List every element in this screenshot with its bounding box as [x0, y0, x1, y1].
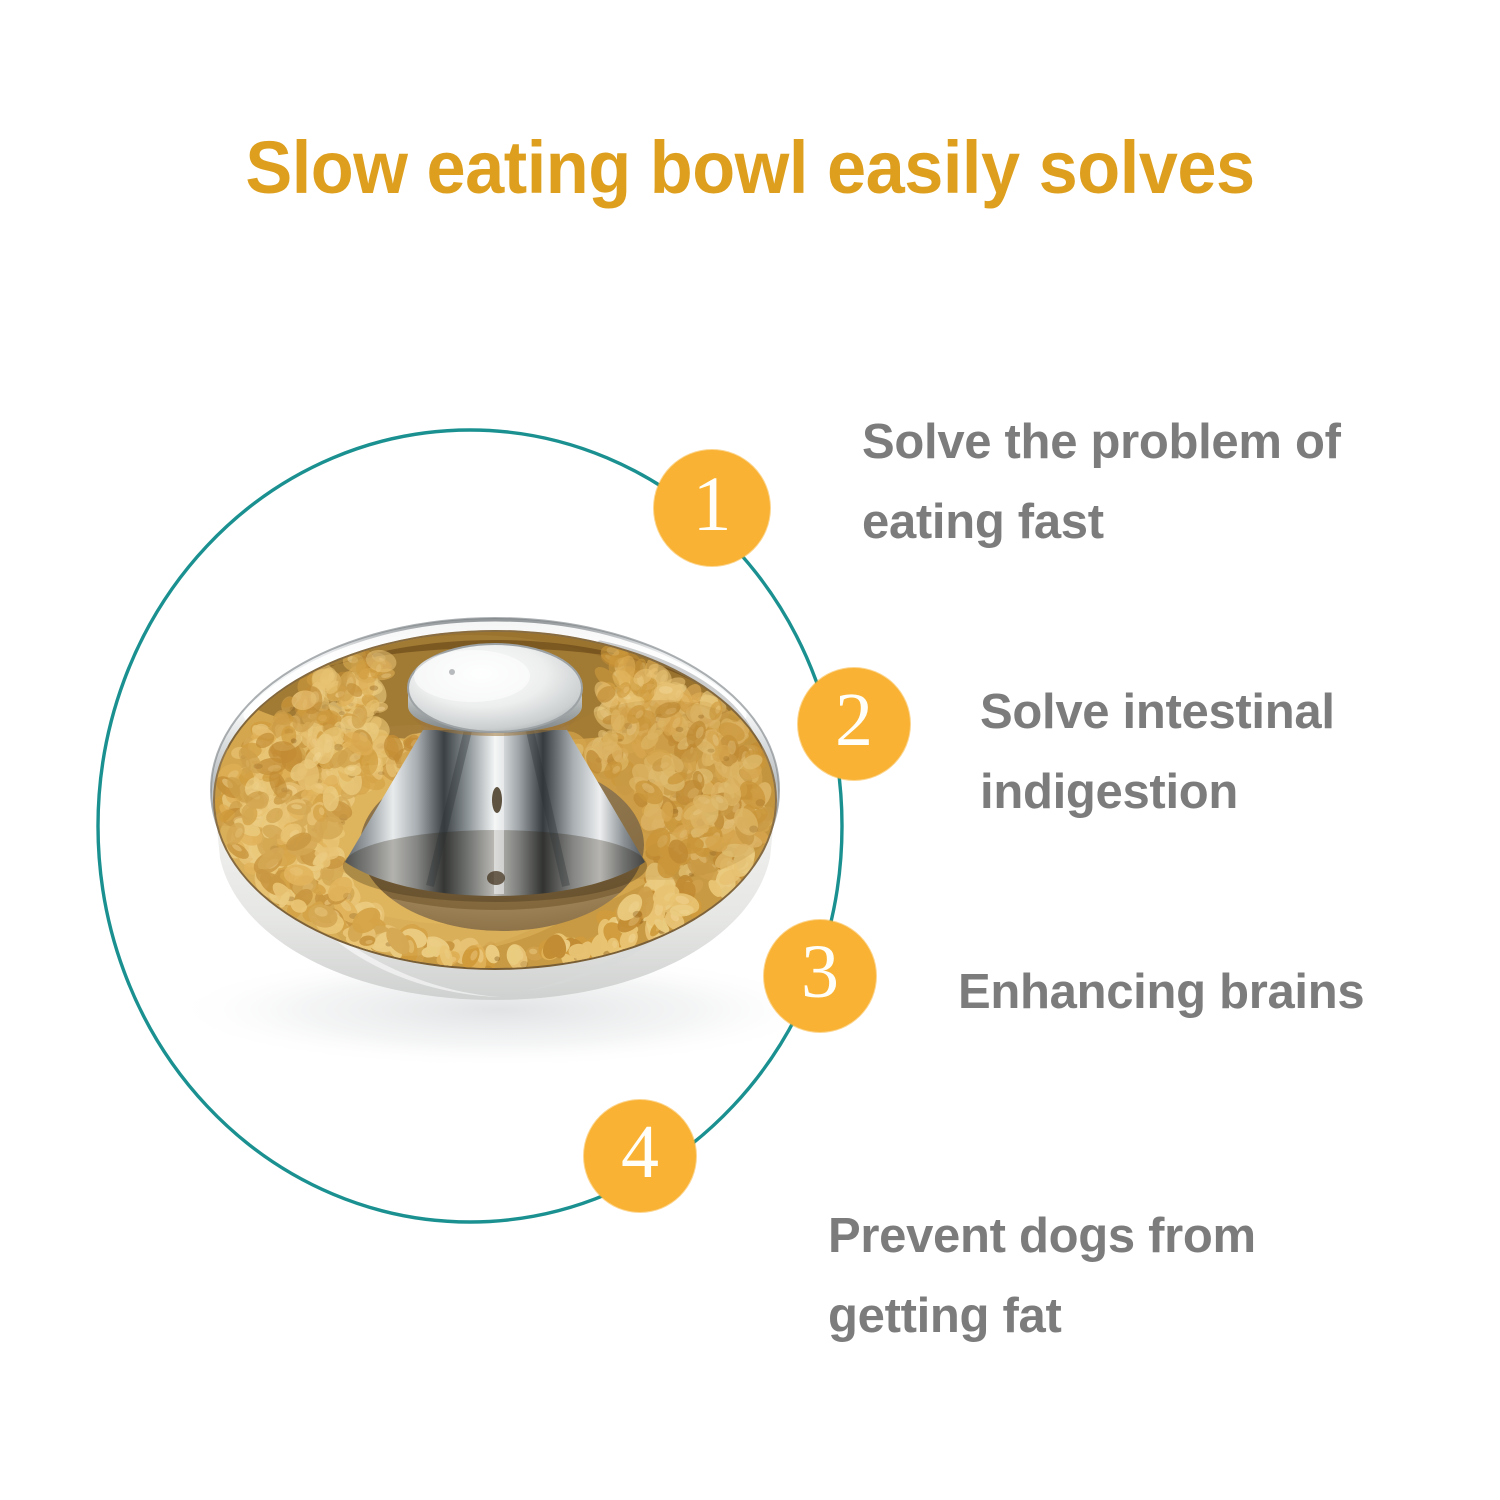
feature-badge-3-number: 3 [801, 929, 839, 1016]
feature-text-1-line-2: eating fast [862, 482, 1442, 562]
feature-badge-1: 1 [654, 450, 770, 566]
feature-text-4-line-1: Prevent dogs from [828, 1196, 1388, 1276]
feature-text-4: Prevent dogs from getting fat [828, 1196, 1388, 1356]
feature-text-2-line-2: indigestion [980, 752, 1480, 832]
feature-text-3: Enhancing brains [958, 952, 1478, 1032]
feature-text-2: Solve intestinal indigestion [980, 672, 1480, 832]
feature-text-3-line-1: Enhancing brains [958, 952, 1478, 1032]
feature-badge-2-number: 2 [835, 677, 873, 764]
feature-badge-3: 3 [764, 920, 876, 1032]
feature-text-1: Solve the problem of eating fast [862, 402, 1442, 562]
feature-badge-4-number: 4 [621, 1109, 659, 1196]
feature-text-4-line-2: getting fat [828, 1276, 1388, 1356]
feature-badge-1-number: 1 [693, 459, 732, 549]
page-title: Slow eating bowl easily solves [38, 126, 1463, 210]
feature-text-1-line-1: Solve the problem of [862, 402, 1442, 482]
feature-badge-2: 2 [798, 668, 910, 780]
feature-badge-4: 4 [584, 1100, 696, 1212]
feature-text-2-line-1: Solve intestinal [980, 672, 1480, 752]
